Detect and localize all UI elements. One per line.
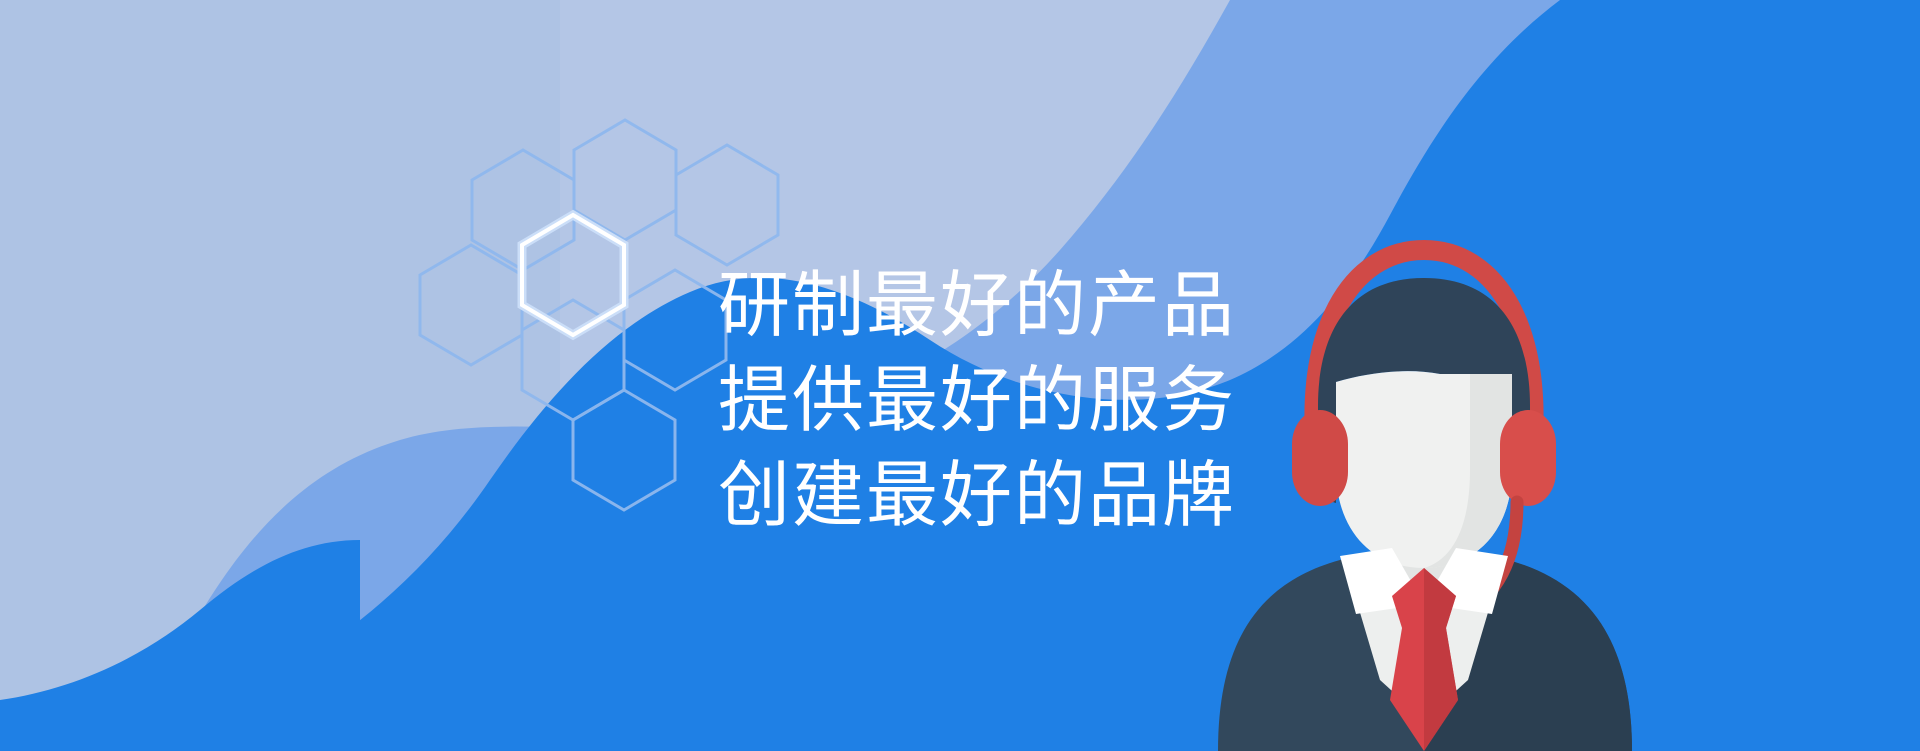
headline-block: 研制最好的产品 提供最好的服务 创建最好的品牌 [718, 258, 1278, 543]
headline-line-2: 提供最好的服务 [718, 353, 1278, 448]
headset-earcup-left [1292, 410, 1348, 506]
headset-earcup-right [1500, 410, 1556, 506]
hero-banner: 研制最好的产品 提供最好的服务 创建最好的品牌 [0, 0, 1920, 751]
headline-line-3: 创建最好的品牌 [718, 448, 1278, 543]
headline-line-1: 研制最好的产品 [718, 258, 1278, 353]
